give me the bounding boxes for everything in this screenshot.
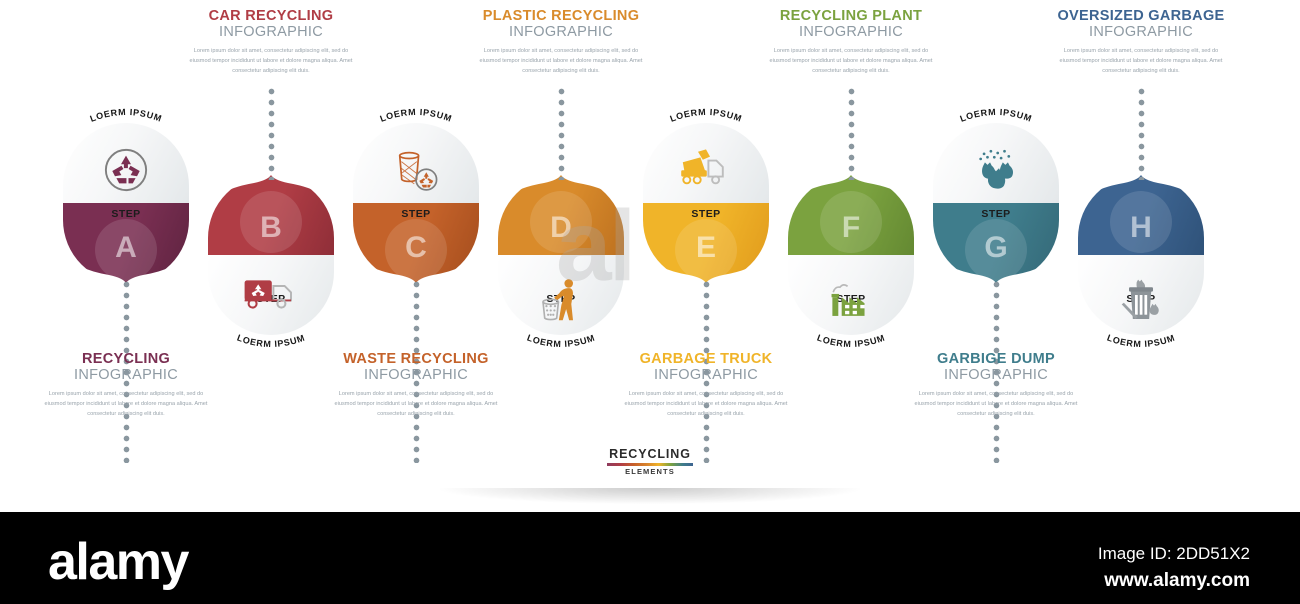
alamy-brand-logo: alamy (48, 536, 188, 588)
svg-text:LOERM IPSUM: LOERM IPSUM (1106, 333, 1177, 350)
svg-text:LOERM IPSUM: LOERM IPSUM (526, 333, 597, 350)
connector-dots (848, 88, 855, 180)
step-column-h[interactable]: STEPH LOERM IPSUM OVERSIZED GARBAGEINFOG… (1036, 0, 1246, 500)
logo-color-bar (607, 463, 693, 466)
step-body-text: Lorem ipsum dolor sit amet, consectetur … (1057, 47, 1225, 76)
step-subtitle: INFOGRAPHIC (1036, 24, 1246, 40)
step-title: OVERSIZED GARBAGE (1036, 8, 1246, 24)
step-text-block: OVERSIZED GARBAGEINFOGRAPHICLorem ipsum … (1036, 8, 1246, 77)
trash-can-bags-icon (1078, 277, 1204, 330)
svg-text:LOERM IPSUM: LOERM IPSUM (236, 333, 307, 350)
alamy-watermark-bar: alamy Image ID: 2DD51X2 www.alamy.com (0, 512, 1300, 604)
logo-title: RECYCLING (577, 447, 723, 461)
step-letter: H (1078, 213, 1204, 243)
svg-text:LOERM IPSUM: LOERM IPSUM (959, 107, 1034, 124)
step-caption: LOERM IPSUM (1078, 327, 1204, 361)
connector-dots (558, 88, 565, 180)
infographic-screenshot: STEPA LOERM IPSUM RECYCLINGINFOGRAPHICLo… (0, 0, 1300, 604)
svg-text:LOERM IPSUM: LOERM IPSUM (379, 107, 454, 124)
svg-text:LOERM IPSUM: LOERM IPSUM (669, 107, 744, 124)
svg-text:LOERM IPSUM: LOERM IPSUM (816, 333, 887, 350)
infographic-canvas: STEPA LOERM IPSUM RECYCLINGINFOGRAPHICLo… (0, 0, 1300, 512)
logo-subtitle: ELEMENTS (577, 467, 723, 476)
image-id-label: Image ID: 2DD51X2 (1098, 544, 1250, 564)
recycling-elements-logo: RECYCLING ELEMENTS (577, 447, 723, 476)
connector-dots (1138, 88, 1145, 180)
step-badge-h[interactable]: STEPH (1078, 175, 1204, 335)
alamy-website-link[interactable]: www.alamy.com (1104, 570, 1250, 592)
svg-text:LOERM IPSUM: LOERM IPSUM (89, 107, 164, 124)
connector-dots (268, 88, 275, 180)
